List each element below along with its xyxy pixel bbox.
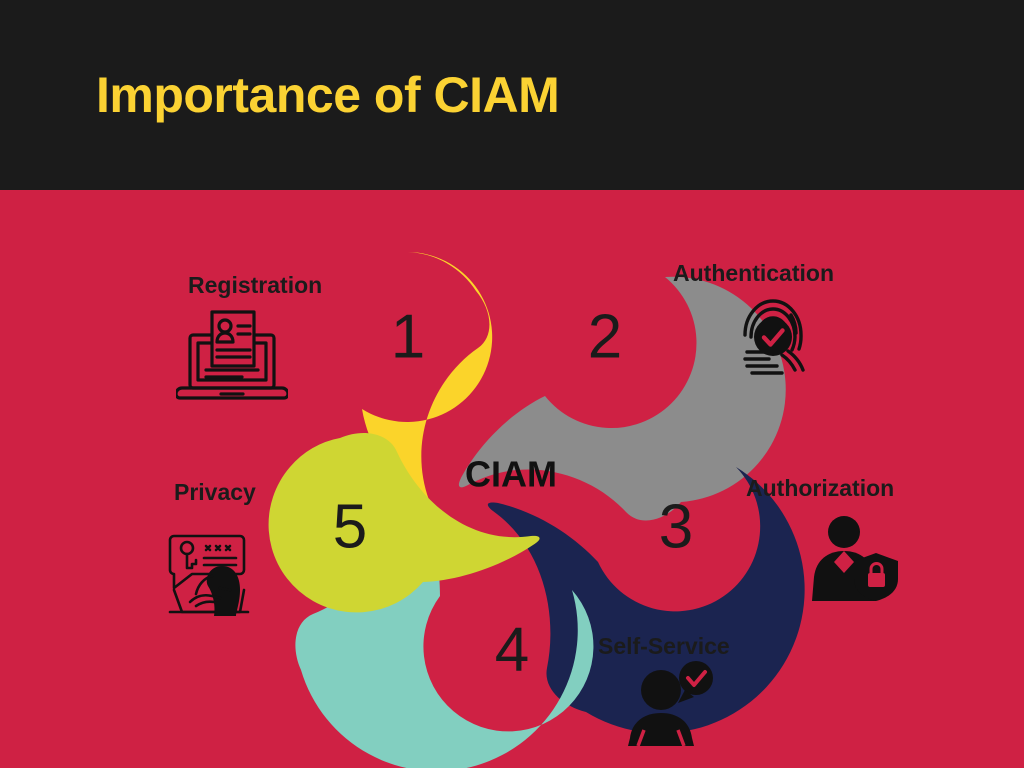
petal-1-number: 1 (391, 303, 425, 372)
ciam-pinwheel-diagram: 1 2 3 4 5 CIAM (0, 190, 1024, 768)
label-privacy: Privacy (174, 481, 256, 504)
center-label: CIAM (465, 454, 557, 495)
user-shield-lock-icon (806, 515, 900, 601)
petal-3-number: 3 (659, 493, 693, 562)
petal-2-number: 2 (588, 303, 622, 372)
fingerprint-check-icon (738, 295, 808, 383)
label-authorization: Authorization (746, 477, 894, 500)
laptop-profile-document-icon (176, 308, 288, 400)
label-registration: Registration (188, 274, 322, 297)
page-title: Importance of CIAM (96, 66, 559, 124)
label-self-service: Self-Service (598, 635, 730, 658)
label-authentication: Authentication (673, 262, 834, 285)
user-speech-check-icon (628, 660, 714, 746)
petal-4-number: 4 (495, 616, 529, 685)
petal-5-number: 5 (333, 493, 367, 562)
person-laptop-password-icon (168, 532, 260, 616)
slide-canvas: Importance of CIAM 1 2 3 4 (0, 0, 1024, 768)
